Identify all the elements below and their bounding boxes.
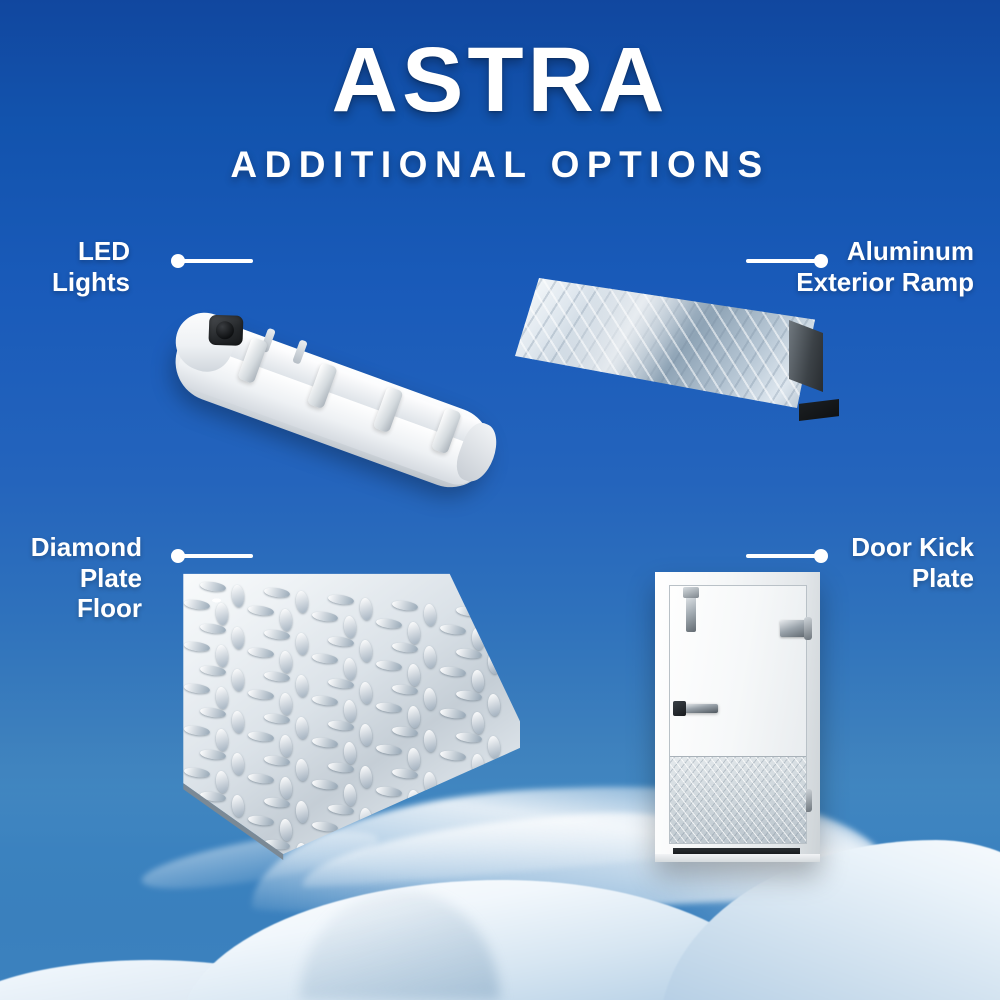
product-image-aluminum-exterior-ramp (515, 268, 845, 433)
door-hinge-icon (780, 620, 808, 637)
diamond-plate-sheet-icon (150, 565, 520, 860)
product-image-led-lights (160, 270, 520, 440)
door-handle-icon (678, 704, 718, 713)
product-image-door-kick-plate (655, 572, 820, 862)
door-panel (669, 585, 807, 844)
cable-gland-icon (208, 315, 243, 346)
connector-dot-icon (171, 254, 185, 268)
product-image-diamond-plate-floor (150, 565, 520, 860)
door-sill (655, 854, 820, 862)
connector-dot-icon (171, 549, 185, 563)
diamond-plate-ramp-icon (515, 278, 815, 408)
astra-additional-options-poster: ASTRA ADDITIONAL OPTIONS LED Lights Alum… (0, 0, 1000, 1000)
callout-label-led-lights: LED Lights (20, 236, 130, 297)
page-subtitle: ADDITIONAL OPTIONS (0, 144, 1000, 186)
callout-connector-diamond-plate-floor (173, 554, 253, 558)
door-top-latch-icon (686, 594, 696, 632)
ramp-mounting-tab (799, 399, 839, 421)
page-title: ASTRA (0, 34, 1000, 126)
led-vapor-tight-light-icon (164, 310, 501, 498)
callout-connector-led-lights (173, 259, 253, 263)
callout-label-diamond-plate-floor: Diamond Plate Floor (14, 532, 142, 624)
door-kick-plate-icon (670, 756, 806, 843)
